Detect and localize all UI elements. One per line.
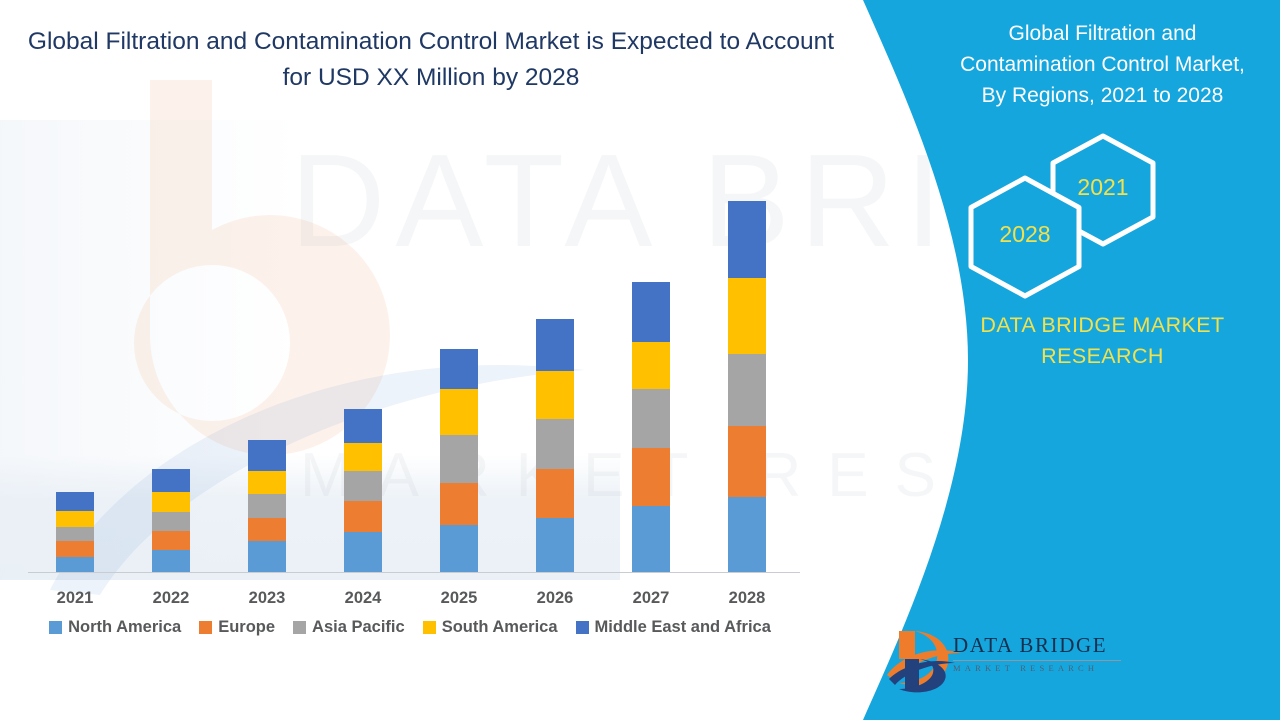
- bar-segment: [632, 389, 670, 447]
- bar-segment: [152, 512, 190, 530]
- bar-segment: [248, 440, 286, 471]
- bar-segment: [344, 501, 382, 532]
- hexagon-2028-label: 2028: [960, 221, 1090, 248]
- legend-swatch-icon: [199, 621, 212, 634]
- logo-tagline: MARKET RESEARCH: [953, 663, 1123, 673]
- logo-name: DATA BRIDGE: [953, 633, 1123, 658]
- bar-segment: [536, 319, 574, 371]
- bar-segment: [56, 527, 94, 541]
- x-axis-tick-label: 2021: [35, 589, 115, 608]
- legend-label: North America: [68, 618, 181, 637]
- bar-segment: [632, 448, 670, 506]
- legend-swatch-icon: [49, 621, 62, 634]
- bar-segment: [344, 471, 382, 501]
- company-logo: DATA BRIDGE MARKET RESEARCH: [885, 625, 1115, 697]
- bar-segment: [728, 426, 766, 496]
- legend-label: Asia Pacific: [312, 618, 405, 637]
- bar-column: [344, 409, 382, 572]
- bar-column: [632, 282, 670, 572]
- bar-segment: [536, 371, 574, 419]
- bar-segment: [152, 469, 190, 492]
- x-axis-tick-label: 2022: [131, 589, 211, 608]
- bar-segment: [536, 518, 574, 572]
- x-axis-line: [28, 572, 800, 573]
- bar-segment: [440, 349, 478, 389]
- legend-item: Asia Pacific: [293, 618, 405, 637]
- x-axis-tick-label: 2028: [707, 589, 787, 608]
- legend-label: South America: [442, 618, 558, 637]
- x-axis-tick-label: 2025: [419, 589, 499, 608]
- bar-column: [728, 201, 766, 572]
- bar-column: [56, 492, 94, 572]
- logo-wordmark: DATA BRIDGE MARKET RESEARCH: [953, 633, 1123, 673]
- bar-segment: [152, 492, 190, 512]
- hexagon-badges: 2021 2028: [955, 130, 1255, 290]
- bar-segment: [56, 492, 94, 511]
- bar-segment: [248, 471, 286, 494]
- legend-item: South America: [423, 618, 558, 637]
- bar-segment: [440, 435, 478, 483]
- bar-column: [152, 469, 190, 572]
- chart-legend: North AmericaEuropeAsia PacificSouth Ame…: [0, 618, 820, 637]
- right-panel-title-line-3: By Regions, 2021 to 2028: [945, 80, 1260, 111]
- stacked-bar-chart: 20212022202320242025202620272028 North A…: [0, 0, 820, 720]
- bar-column: [248, 440, 286, 572]
- bar-segment: [248, 518, 286, 541]
- bar-segment: [152, 550, 190, 572]
- legend-swatch-icon: [293, 621, 306, 634]
- bar-segment: [536, 469, 574, 518]
- bar-segment: [152, 531, 190, 550]
- bar-column: [440, 349, 478, 572]
- logo-divider: [953, 660, 1121, 661]
- bar-segment: [344, 443, 382, 471]
- bar-segment: [248, 541, 286, 572]
- bar-segment: [632, 342, 670, 389]
- x-axis-tick-label: 2023: [227, 589, 307, 608]
- right-panel-content: Global Filtration and Contamination Cont…: [925, 0, 1280, 720]
- bar-segment: [56, 511, 94, 527]
- right-panel-title-line-2: Contamination Control Market,: [945, 49, 1260, 80]
- legend-label: Europe: [218, 618, 275, 637]
- bar-segment: [248, 494, 286, 517]
- bar-segment: [536, 419, 574, 469]
- bar-segment: [344, 532, 382, 572]
- bar-segment: [632, 282, 670, 343]
- bar-segment: [728, 201, 766, 278]
- bar-segment: [56, 557, 94, 572]
- brand-line-1: DATA BRIDGE MARKET: [935, 310, 1270, 341]
- legend-swatch-icon: [576, 621, 589, 634]
- legend-item: Middle East and Africa: [576, 618, 771, 637]
- bar-segment: [728, 278, 766, 355]
- right-panel-title: Global Filtration and Contamination Cont…: [945, 18, 1260, 111]
- bar-column: [536, 319, 574, 572]
- bar-segment: [344, 409, 382, 443]
- right-panel-title-line-1: Global Filtration and: [945, 18, 1260, 49]
- bar-segment: [728, 497, 766, 572]
- bar-segment: [440, 483, 478, 526]
- x-axis-tick-label: 2024: [323, 589, 403, 608]
- brand-line-2: RESEARCH: [935, 341, 1270, 372]
- legend-item: North America: [49, 618, 181, 637]
- brand-name: DATA BRIDGE MARKET RESEARCH: [935, 310, 1270, 372]
- bar-segment: [440, 525, 478, 572]
- x-axis-tick-label: 2027: [611, 589, 691, 608]
- bar-segment: [56, 541, 94, 557]
- x-axis-labels: 20212022202320242025202620272028: [0, 589, 820, 615]
- infographic-canvas: DATA BRIDGE MARKET RESEARCH Global Filtr…: [0, 0, 1280, 720]
- legend-swatch-icon: [423, 621, 436, 634]
- x-axis-tick-label: 2026: [515, 589, 595, 608]
- legend-label: Middle East and Africa: [595, 618, 771, 637]
- legend-item: Europe: [199, 618, 275, 637]
- bar-segment: [728, 354, 766, 426]
- bar-segment: [632, 506, 670, 572]
- bar-segment: [440, 389, 478, 435]
